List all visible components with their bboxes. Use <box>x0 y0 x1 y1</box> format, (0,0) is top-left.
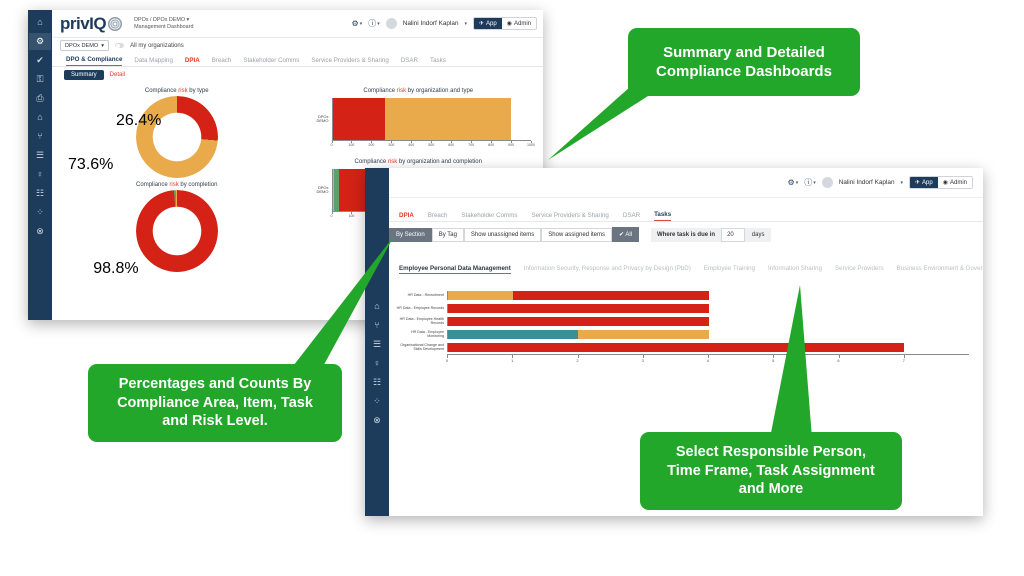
callout-text: Summary and DetailedCompliance Dashboard… <box>656 43 832 81</box>
callout-text: Percentages and Counts ByCompliance Area… <box>117 375 313 431</box>
callout-percentages: Percentages and Counts ByCompliance Area… <box>88 364 342 442</box>
callout-text: Select Responsible Person,Time Frame, Ta… <box>667 443 875 499</box>
screenshot-stage: ⌂⚙✔⚿⎙⌂⑂☰♀☷⁘⊗ privIQ DPOx / DPOx DEMO ▾ M… <box>0 0 1024 576</box>
callout-select: Select Responsible Person,Time Frame, Ta… <box>640 432 902 510</box>
callout-dashboards: Summary and DetailedCompliance Dashboard… <box>628 28 860 96</box>
